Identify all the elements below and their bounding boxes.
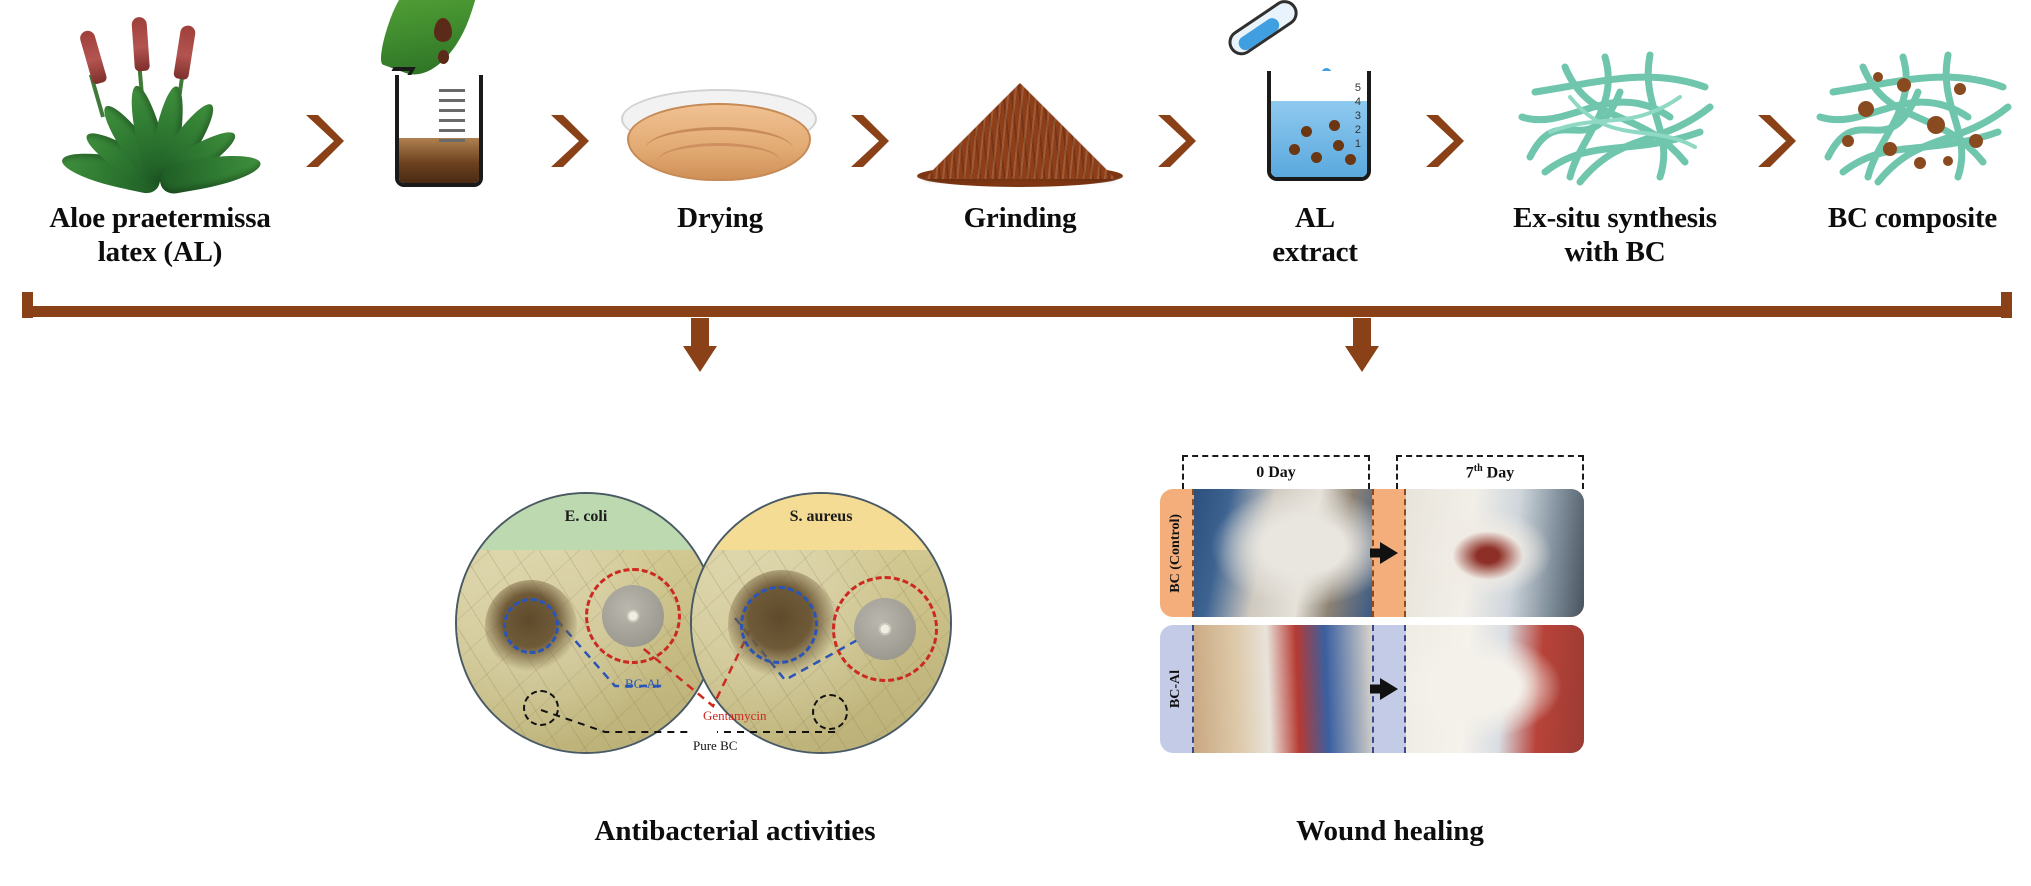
chevron-right-icon	[545, 112, 591, 170]
process-step-al-extract[interactable]: 54321 AL extract	[1210, 10, 1420, 269]
wound-image-control-day7	[1406, 489, 1584, 617]
antibiotic-disc	[602, 585, 664, 647]
chevron-right-icon	[1420, 112, 1466, 170]
plate-title-ecoli: E. coli	[457, 508, 715, 526]
powder-cone-icon	[900, 10, 1140, 195]
zone-ring-bcal	[740, 586, 818, 664]
wound-healing-figure[interactable]: 0 Day 7th Day BC (Control) BC-Al	[1160, 455, 1620, 795]
beaker-latex-icon	[350, 10, 530, 195]
wound-arrow-bcal	[1372, 625, 1406, 753]
legend-label-purebc: Pure BC	[693, 738, 737, 754]
process-step-drying[interactable]: Drying	[605, 10, 835, 235]
arrow-down-icon-wound	[1345, 318, 1379, 372]
process-step-aloe[interactable]: Aloe praetermissa latex (AL)	[10, 10, 310, 269]
bc-network-icon	[1470, 10, 1760, 195]
process-flow-row: Aloe praetermissa latex (AL)	[0, 0, 2031, 300]
chevron-right-icon	[1152, 112, 1198, 170]
arrow-right-icon	[1380, 678, 1398, 700]
step-label-grinding: Grinding	[900, 201, 1140, 235]
antibacterial-figure[interactable]: E. coli S. aureus BC-Al Gentamycin Pure …	[455, 470, 1015, 800]
process-step-latex[interactable]	[350, 10, 530, 201]
antibiotic-disc	[854, 598, 916, 660]
process-step-ex-situ[interactable]: Ex-situ synthesis with BC	[1470, 10, 1760, 269]
zone-ring-purebc	[812, 694, 848, 730]
wound-col-header-day7-text: 7th Day	[1466, 463, 1514, 482]
caption-antibacterial: Antibacterial activities	[455, 815, 1015, 848]
chevron-right-icon	[1752, 112, 1798, 170]
chevron-right-icon	[300, 112, 346, 170]
wound-row-label-bcal: BC-Al	[1160, 625, 1194, 753]
arrow-right-icon	[1380, 542, 1398, 564]
plate-title-saureus: S. aureus	[692, 508, 950, 526]
bracket-tick-left	[22, 292, 33, 318]
beaker-pipette-icon: 54321	[1210, 10, 1420, 195]
bracket-tick-right	[2001, 292, 2012, 318]
zone-ring-bcal	[503, 598, 559, 654]
wound-arrow-control	[1372, 489, 1406, 617]
beaker-scale: 54321	[1355, 81, 1361, 151]
step-label-bc-composite: BC composite	[1800, 201, 2025, 235]
wound-col-header-day0: 0 Day	[1182, 455, 1370, 489]
wound-image-bcal-day7	[1406, 625, 1584, 753]
wound-row-label-control: BC (Control)	[1160, 489, 1194, 617]
wound-row-control[interactable]: BC (Control)	[1160, 489, 1584, 617]
aloe-plant-icon	[10, 10, 310, 195]
legend-label-bcal: BC-Al	[625, 676, 660, 692]
wound-col-header-day7: 7th Day	[1396, 455, 1584, 489]
wound-image-control-day0	[1194, 489, 1372, 617]
wound-row-bcal[interactable]: BC-Al	[1160, 625, 1584, 753]
bracket-bar	[22, 306, 2012, 317]
process-step-grinding[interactable]: Grinding	[900, 10, 1140, 235]
arrow-down-icon-antibacterial	[683, 318, 717, 372]
petri-plate-ecoli[interactable]: E. coli	[455, 492, 717, 754]
bracket	[22, 292, 2012, 326]
bc-composite-icon	[1800, 10, 2025, 195]
step-label-aloe: Aloe praetermissa latex (AL)	[10, 201, 310, 269]
chevron-right-icon	[845, 112, 891, 170]
process-step-bc-composite[interactable]: BC composite	[1800, 10, 2025, 235]
zone-ring-purebc	[523, 690, 559, 726]
legend-label-gentamycin: Gentamycin	[703, 708, 767, 724]
step-label-al-extract: AL extract	[1210, 201, 1420, 269]
petri-dish-icon	[605, 10, 835, 195]
step-label-drying: Drying	[605, 201, 835, 235]
caption-wound: Wound healing	[1160, 815, 1620, 848]
wound-image-bcal-day0	[1194, 625, 1372, 753]
step-label-ex-situ: Ex-situ synthesis with BC	[1470, 201, 1760, 269]
